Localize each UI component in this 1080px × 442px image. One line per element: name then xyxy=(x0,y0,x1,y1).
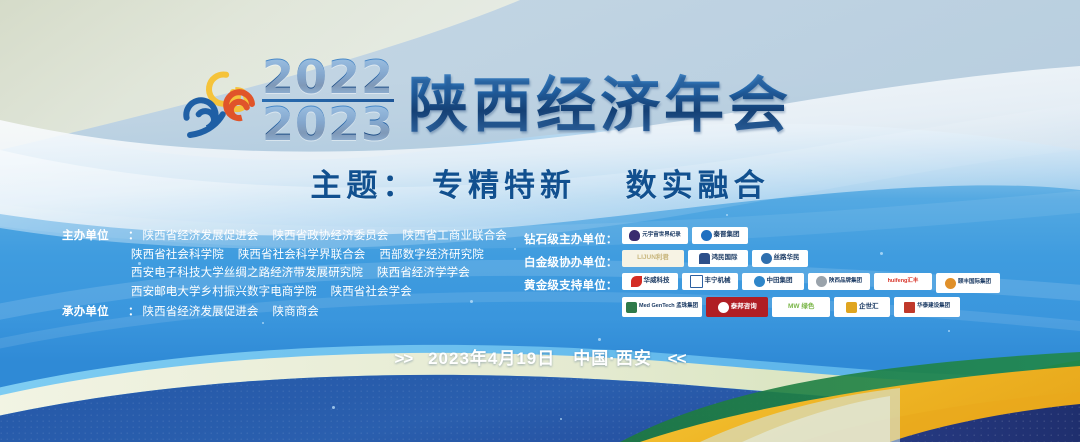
host-item: 陕西省政协经济委员会 xyxy=(273,227,389,246)
organizer-item: 陕商商会 xyxy=(273,303,319,322)
sponsor-tier-diamond: 钻石级主办单位： 元宇宙世界纪录 秦晋集团 xyxy=(524,227,1072,247)
sponsor-logo[interactable]: 华泰建设集团 xyxy=(894,297,960,317)
sponsor-mark-icon xyxy=(699,253,710,264)
tier-logos-gold: 华威科技 丰宁机械 中田集团 陕西品牌集团 hui xyxy=(622,273,1054,317)
theme-line: 主题： 专精特新 数实融合 xyxy=(0,160,1080,205)
sponsor-logo[interactable]: 中田集团 xyxy=(742,273,804,290)
sponsor-tier-gold: 黄金级支持单位： 华威科技 丰宁机械 中田集团 xyxy=(524,273,1072,317)
sponsor-mark-icon xyxy=(631,276,642,287)
sponsor-name: LIJUN利君 xyxy=(637,255,669,262)
sponsor-mark-icon xyxy=(718,302,729,313)
sponsor-logo[interactable]: 泰邦咨询 xyxy=(706,297,768,317)
sponsor-name: huifeng汇丰 xyxy=(888,279,919,285)
sponsor-mark-icon xyxy=(690,275,703,288)
sponsor-name: 丰宁机械 xyxy=(705,278,731,285)
sponsor-name: 泰邦咨询 xyxy=(731,304,757,311)
host-item: 陕西省经济学学会 xyxy=(377,264,470,283)
host-item: 陕西省社会科学院 xyxy=(131,246,224,265)
sponsor-name: 丝路华民 xyxy=(774,255,800,262)
host-item: 西安电子科技大学丝绸之路经济带发展研究院 xyxy=(131,264,363,283)
host-item: 陕西省工商业联合会 xyxy=(403,227,507,246)
organizer-label: 承办单位 xyxy=(62,303,128,322)
sponsor-logo[interactable]: 陕西品牌集团 xyxy=(808,273,870,290)
tier-label-platinum: 白金级协办单位： xyxy=(524,250,622,270)
sponsor-mark-icon xyxy=(846,302,857,313)
organizer-colon: ： xyxy=(128,303,140,322)
sponsor-logo[interactable]: MW 绿色 xyxy=(772,297,830,317)
sponsor-mark-icon xyxy=(754,276,765,287)
sponsor-name: Med GenTech 孟珠集团 xyxy=(639,304,698,310)
year-range: 2022 2023 xyxy=(262,56,394,146)
sponsor-name: 华泰建设集团 xyxy=(917,304,950,310)
tier-logos-diamond: 元宇宙世界纪录 秦晋集团 xyxy=(622,227,748,244)
sponsor-logo[interactable]: LIJUN利君 xyxy=(622,250,684,267)
date-location-line: >> 2023年4月19日 中国·西安 << xyxy=(0,344,1080,369)
year-start: 2022 xyxy=(262,56,394,98)
host-row: 西安电子科技大学丝绸之路经济带发展研究院 陕西省经济学学会 xyxy=(62,264,514,283)
tier-logos-platinum: LIJUN利君 鸿民国际 丝路华民 xyxy=(622,250,808,267)
triple-swirl-logo-icon xyxy=(178,60,264,148)
sponsor-mark-icon xyxy=(816,276,827,287)
sponsor-mark-icon xyxy=(761,253,772,264)
organizers-block: 主办单位 ： 陕西省经济发展促进会 陕西省政协经济委员会 陕西省工商业联合会 陕… xyxy=(62,227,514,322)
sponsor-name: 中田集团 xyxy=(767,278,793,285)
sponsor-logo[interactable]: huifeng汇丰 xyxy=(874,273,932,290)
date-text: 2023年4月19日 中国·西安 xyxy=(428,349,652,368)
title-row: 2022 2023 陕西经济年会 xyxy=(262,56,792,146)
page-title: 陕西经济年会 xyxy=(408,57,792,144)
host-row: 陕西省社会科学院 陕西省社会科学界联合会 西部数字经济研究院 xyxy=(62,246,514,265)
host-item: 陕西省经济发展促进会 xyxy=(143,227,259,246)
sponsor-mark-icon xyxy=(904,302,915,313)
sponsor-name: 元宇宙世界纪录 xyxy=(642,233,681,239)
sponsor-logo[interactable]: 丝路华民 xyxy=(752,250,808,267)
sponsor-name: 鸿民国际 xyxy=(712,255,738,262)
sponsor-mark-icon xyxy=(701,230,712,241)
sponsor-mark-icon xyxy=(945,278,956,289)
year-end: 2023 xyxy=(262,103,394,145)
sponsor-mark-icon xyxy=(626,302,637,313)
sponsor-logo[interactable]: 颐丰国际集团 xyxy=(936,273,1000,293)
sponsor-name: 企世汇 xyxy=(859,304,879,311)
organizer-row: 承办单位 ： 陕西省经济发展促进会 陕商商会 xyxy=(62,303,514,322)
arrow-left-icon: >> xyxy=(394,349,412,368)
host-item: 西部数字经济研究院 xyxy=(379,246,483,265)
conference-banner: 2022 2023 陕西经济年会 主题： 专精特新 数实融合 主办单位 ： 陕西… xyxy=(0,0,1080,442)
sponsor-mark-icon xyxy=(629,230,640,241)
host-colon: ： xyxy=(128,227,140,246)
tier-label-gold: 黄金级支持单位： xyxy=(524,273,622,293)
sponsor-logo[interactable]: 企世汇 xyxy=(834,297,890,317)
host-row: 西安邮电大学乡村振兴数字电商学院 陕西省社会学会 xyxy=(62,283,514,302)
arrow-right-icon: << xyxy=(668,349,686,368)
sponsor-name: 陕西品牌集团 xyxy=(829,279,862,285)
host-item: 西安邮电大学乡村振兴数字电商学院 xyxy=(131,283,317,302)
host-row: 主办单位 ： 陕西省经济发展促进会 陕西省政协经济委员会 陕西省工商业联合会 xyxy=(62,227,514,246)
sponsor-logo[interactable]: 鸿民国际 xyxy=(688,250,748,267)
sponsors-block: 钻石级主办单位： 元宇宙世界纪录 秦晋集团 白金级协办单位： xyxy=(524,227,1072,320)
sponsor-name: 华威科技 xyxy=(644,278,670,285)
sponsor-tier-platinum: 白金级协办单位： LIJUN利君 鸿民国际 丝路华民 xyxy=(524,250,1072,270)
host-item: 陕西省社会科学界联合会 xyxy=(238,246,366,265)
sponsor-name: 秦晋集团 xyxy=(714,232,740,239)
sponsor-name: MW 绿色 xyxy=(788,304,814,311)
host-item: 陕西省社会学会 xyxy=(331,283,412,302)
tier-label-diamond: 钻石级主办单位： xyxy=(524,227,622,247)
organizer-item: 陕西省经济发展促进会 xyxy=(143,303,259,322)
sponsor-name: 颐丰国际集团 xyxy=(958,280,991,286)
sponsor-logo[interactable]: 丰宁机械 xyxy=(682,273,738,290)
sponsor-logo[interactable]: 华威科技 xyxy=(622,273,678,290)
sponsor-logo[interactable]: Med GenTech 孟珠集团 xyxy=(622,297,702,317)
sponsor-logo[interactable]: 元宇宙世界纪录 xyxy=(622,227,688,244)
sponsor-logo[interactable]: 秦晋集团 xyxy=(692,227,748,244)
host-label: 主办单位 xyxy=(62,227,128,246)
